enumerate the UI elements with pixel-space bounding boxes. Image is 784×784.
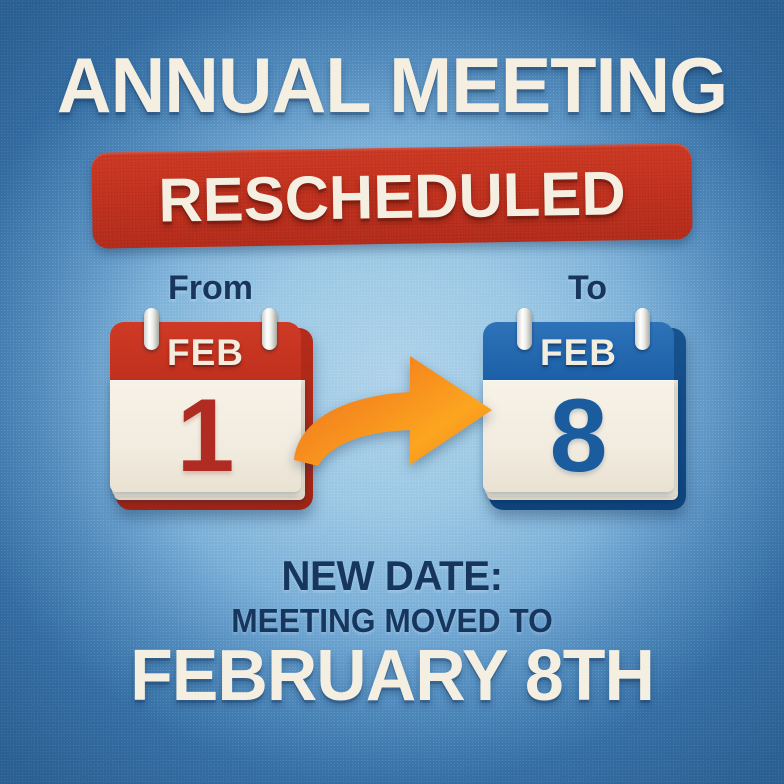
calendar-ring-icon [635,308,650,350]
calendar-ring-icon [517,308,532,350]
calendar-ring-icon [144,308,159,350]
calendar-ring-icon [262,308,277,350]
final-date-text: FEBRUARY 8TH [12,640,772,712]
arrow-right-icon [292,352,498,470]
calendar-to-day-label: 8 [483,380,674,492]
calendar-from: FEB 1 [110,322,313,510]
meeting-moved-subheading: MEETING MOVED TO [16,602,769,640]
poster-canvas: ANNUAL MEETING RESCHEDULED From To FEB 1 [0,0,784,784]
page-title: ANNUAL MEETING [12,46,772,124]
new-date-heading: NEW DATE: [16,552,769,600]
calendar-from-day-label: 1 [110,380,301,492]
calendar-to: FEB 8 [483,322,686,510]
from-label: From [168,269,253,308]
to-label: To [568,269,607,308]
calendar-from-day: 1 [110,380,301,492]
banner-label: RESCHEDULED [94,144,689,249]
rescheduled-banner: RESCHEDULED [91,143,692,248]
calendar-to-day: 8 [483,380,674,492]
